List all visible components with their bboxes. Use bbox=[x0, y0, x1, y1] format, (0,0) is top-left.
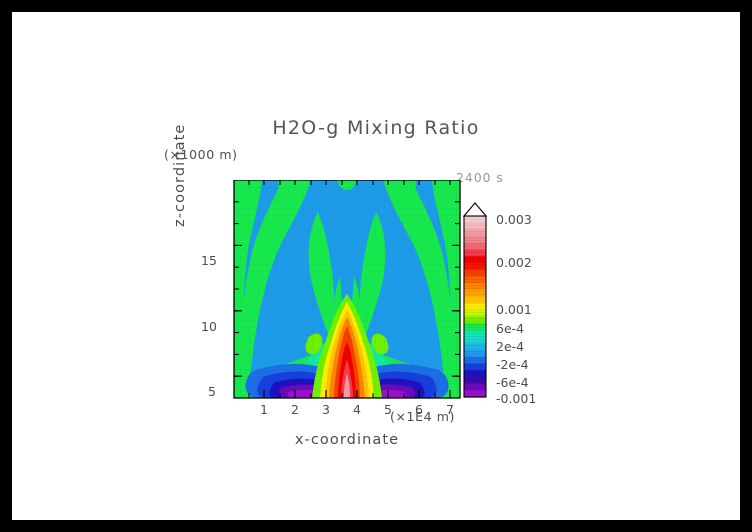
colorbar-striation bbox=[464, 276, 486, 277]
x-tick-label: 3 bbox=[322, 402, 330, 417]
colorbar-striation bbox=[464, 282, 486, 283]
colorbar-striation bbox=[464, 234, 486, 235]
x-axis-title: x-coordinate bbox=[234, 432, 460, 448]
colorbar-tick-label: 6e-4 bbox=[496, 321, 524, 336]
colorbar-band bbox=[464, 343, 486, 350]
colorbar-striation bbox=[464, 321, 486, 322]
colorbar-striation bbox=[464, 273, 486, 274]
colorbar-striation bbox=[464, 291, 486, 292]
colorbar-striation bbox=[464, 285, 486, 286]
colorbar-band bbox=[464, 229, 486, 236]
colorbar-tick-label: 0.003 bbox=[496, 212, 532, 227]
colorbar-tick-label: 2e-4 bbox=[496, 339, 524, 354]
x-tick-label: 2 bbox=[291, 402, 299, 417]
colorbar-tick-label: 0.002 bbox=[496, 255, 532, 270]
colorbar-striation bbox=[464, 387, 486, 388]
colorbar-striation bbox=[464, 219, 486, 220]
colorbar-striation bbox=[464, 330, 486, 331]
colorbar-striation bbox=[464, 360, 486, 361]
colorbar-striation bbox=[464, 228, 486, 229]
colorbar-tick-label: 0.001 bbox=[496, 302, 532, 317]
colorbar-striation bbox=[464, 255, 486, 256]
y-tick-label: 10 bbox=[201, 319, 217, 334]
colorbar-striation bbox=[464, 222, 486, 223]
colorbar-striation bbox=[464, 312, 486, 313]
colorbar-striation bbox=[464, 288, 486, 289]
colorbar-striation bbox=[464, 267, 486, 268]
colorbar-extend-arrow bbox=[464, 203, 486, 216]
colorbar-striation bbox=[464, 231, 486, 232]
figure-canvas: H2O-g Mixing Ratio (×1000 m) 2400 s (×1E… bbox=[12, 12, 740, 520]
colorbar-striation bbox=[464, 381, 486, 382]
colorbar-striation bbox=[464, 252, 486, 253]
colorbar-striation bbox=[464, 375, 486, 376]
colorbar-band bbox=[464, 290, 486, 297]
colorbar-striation bbox=[464, 372, 486, 373]
colorbar bbox=[462, 202, 488, 400]
colorbar-striation bbox=[464, 333, 486, 334]
colorbar-striation bbox=[464, 378, 486, 379]
colorbar-striation bbox=[464, 318, 486, 319]
x-tick-label: 4 bbox=[353, 402, 361, 417]
x-tick-label: 7 bbox=[446, 402, 454, 417]
colorbar-band bbox=[464, 377, 486, 384]
colorbar-striation bbox=[464, 306, 486, 307]
colorbar-tick-label: -2e-4 bbox=[496, 357, 529, 372]
colorbar-striation bbox=[464, 384, 486, 385]
colorbar-striation bbox=[464, 264, 486, 265]
colorbar-tick-label: -6e-4 bbox=[496, 375, 529, 390]
y-tick-label: 5 bbox=[208, 384, 216, 399]
colorbar-band bbox=[464, 310, 486, 317]
contour-field bbox=[234, 180, 460, 398]
colorbar-striation bbox=[464, 393, 486, 394]
page-title: H2O-g Mixing Ratio bbox=[12, 117, 740, 139]
colorbar-band bbox=[464, 256, 486, 263]
contour-plot bbox=[222, 180, 472, 410]
colorbar-bands bbox=[464, 216, 486, 398]
colorbar-striation bbox=[464, 327, 486, 328]
colorbar-striation bbox=[464, 237, 486, 238]
colorbar-striation bbox=[464, 348, 486, 349]
colorbar-striation bbox=[464, 357, 486, 358]
x-tick-label: 5 bbox=[384, 402, 392, 417]
colorbar-striation bbox=[464, 225, 486, 226]
y-axis-title: z-coordinate bbox=[172, 124, 188, 227]
x-tick-label: 1 bbox=[260, 402, 268, 417]
colorbar-striation bbox=[464, 339, 486, 340]
colorbar-striation bbox=[464, 324, 486, 325]
y-tick-label: 15 bbox=[201, 253, 217, 268]
colorbar-striation bbox=[464, 303, 486, 304]
colorbar-striation bbox=[464, 342, 486, 343]
colorbar-striation bbox=[464, 240, 486, 241]
colorbar-striation bbox=[464, 297, 486, 298]
colorbar-striation bbox=[464, 390, 486, 391]
colorbar-striation bbox=[464, 363, 486, 364]
colorbar-striation bbox=[464, 243, 486, 244]
colorbar-striation bbox=[464, 366, 486, 367]
colorbar-striation bbox=[464, 351, 486, 352]
colorbar-striation bbox=[464, 315, 486, 316]
colorbar-band bbox=[464, 370, 486, 377]
colorbar-striation bbox=[464, 258, 486, 259]
colorbar-striation bbox=[464, 309, 486, 310]
colorbar-striation bbox=[464, 354, 486, 355]
colorbar-striation bbox=[464, 345, 486, 346]
colorbar-striation bbox=[464, 294, 486, 295]
x-tick-label: 6 bbox=[415, 402, 423, 417]
colorbar-striation bbox=[464, 249, 486, 250]
colorbar-striation bbox=[464, 246, 486, 247]
colorbar-tick-label: -0.001 bbox=[496, 391, 536, 406]
colorbar-striation bbox=[464, 300, 486, 301]
colorbar-band bbox=[464, 283, 486, 290]
colorbar-striation bbox=[464, 270, 486, 271]
colorbar-striation bbox=[464, 369, 486, 370]
colorbar-striation bbox=[464, 279, 486, 280]
colorbar-band bbox=[464, 317, 486, 324]
colorbar-striation bbox=[464, 261, 486, 262]
colorbar-striation bbox=[464, 336, 486, 337]
